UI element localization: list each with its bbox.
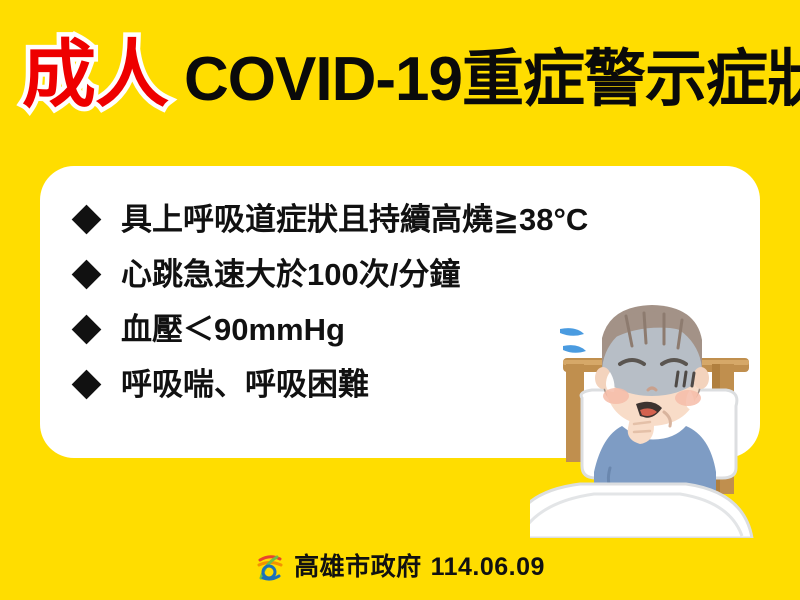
symptom-text: 呼吸喘、呼吸困難 bbox=[121, 369, 369, 400]
footer-date: 114.06.09 bbox=[431, 555, 545, 580]
title-highlight-adult: 成人 bbox=[22, 38, 168, 112]
poster-root: 成人 COVID-19重症警示症狀 具上呼吸道症狀且持續高燒≧38°C 心跳急速… bbox=[0, 0, 800, 600]
diamond-bullet-icon bbox=[72, 260, 102, 290]
list-item: 具上呼吸道症狀且持續高燒≧38°C bbox=[76, 192, 676, 247]
footer: 高雄市政府 114.06.09 bbox=[0, 552, 800, 582]
diamond-bullet-icon bbox=[72, 315, 102, 345]
sick-elderly-person-in-bed-illustration bbox=[530, 286, 780, 538]
symptom-text: 具上呼吸道症狀且持續高燒≧38°C bbox=[121, 204, 588, 235]
page-title: 成人 COVID-19重症警示症狀 bbox=[22, 38, 800, 112]
symptom-text: 血壓＜90mmHg bbox=[121, 314, 345, 345]
title-main: COVID-19重症警示症狀 bbox=[184, 49, 800, 111]
footer-organization: 高雄市政府 bbox=[294, 555, 422, 580]
kaohsiung-city-government-logo-icon bbox=[255, 552, 285, 582]
symptom-text: 心跳急速大於100次/分鐘 bbox=[121, 259, 460, 290]
diamond-bullet-icon bbox=[72, 370, 102, 400]
diamond-bullet-icon bbox=[72, 205, 102, 235]
